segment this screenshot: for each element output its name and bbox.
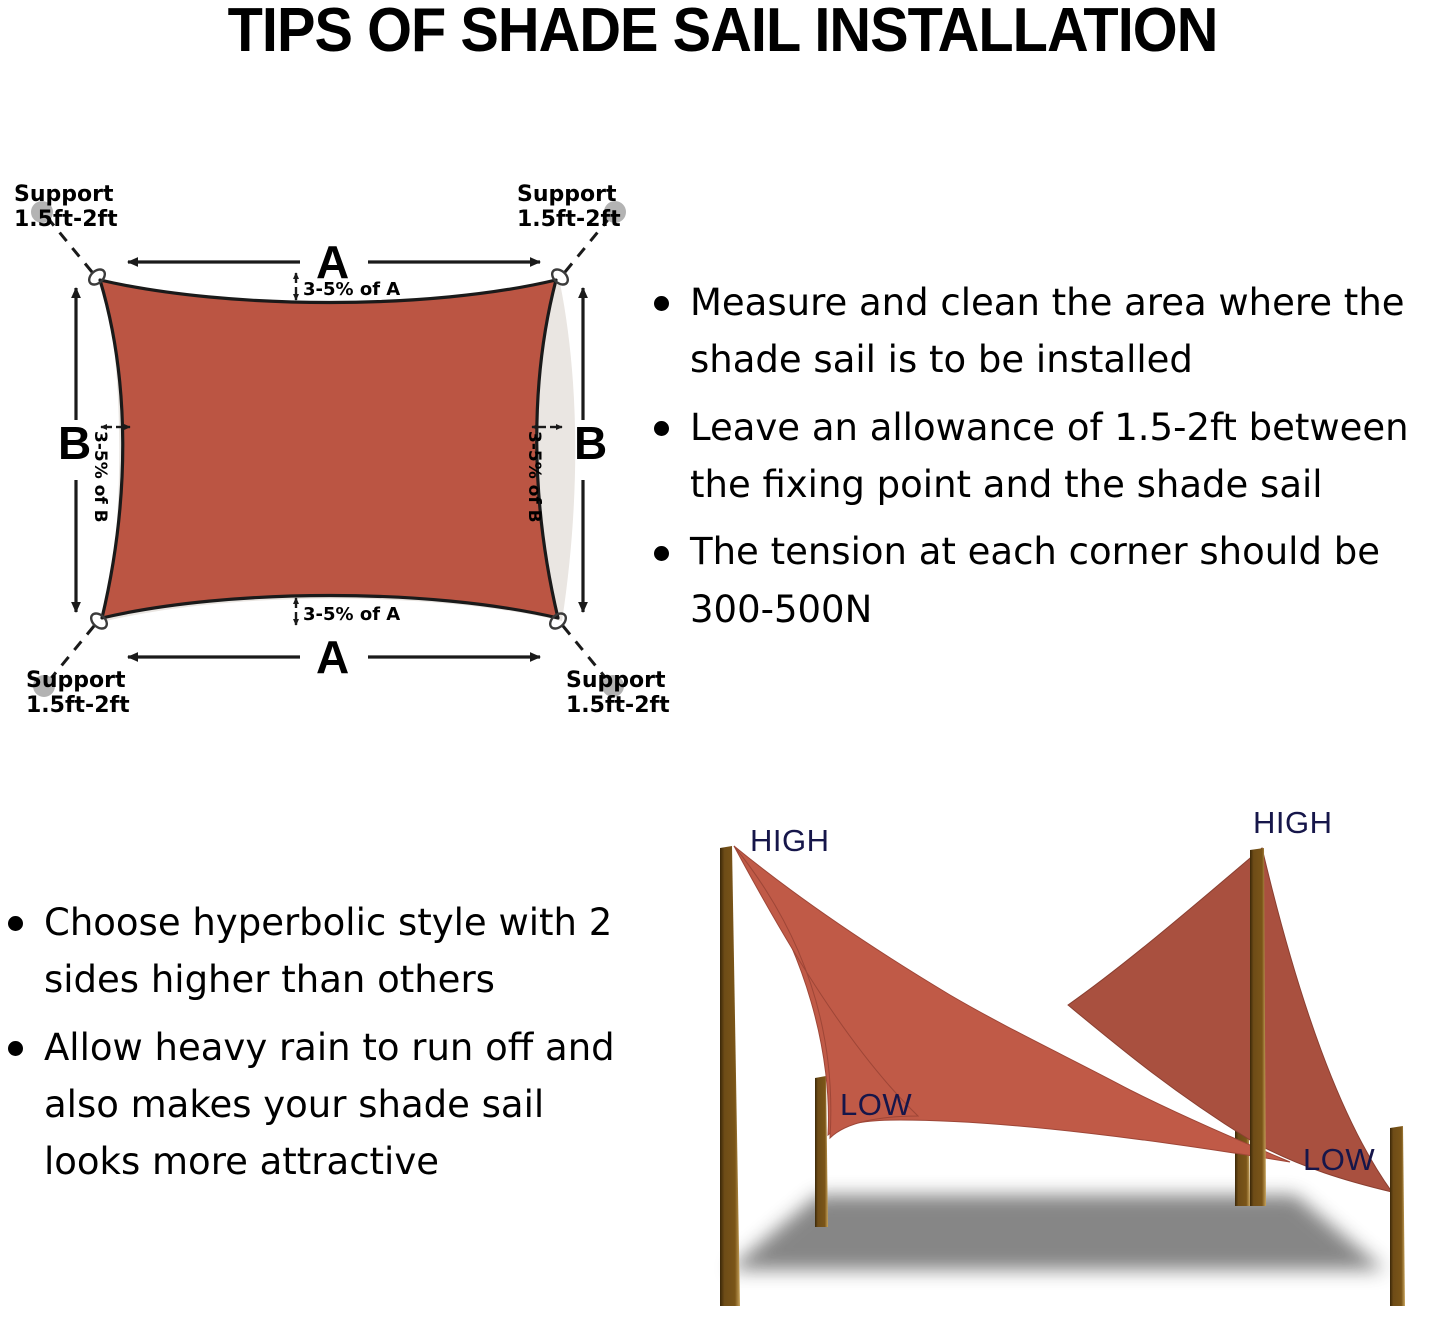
list-item: The tension at each corner should be 300… [648, 523, 1445, 638]
bullet-dot-icon [8, 916, 23, 931]
bullet-dot-icon [654, 546, 669, 561]
dimension-label-a-bottom: A [316, 630, 349, 684]
dimension-label-b-right: B [574, 416, 607, 470]
tip-text: Measure and clean the area where the sha… [690, 274, 1445, 389]
tip-text: Choose hyperbolic style with 2 sides hig… [44, 894, 632, 1009]
shade-sail-shape [100, 280, 558, 618]
support-label-top-left: Support 1.5ft-2ft [14, 182, 118, 233]
post-low-right [1390, 1126, 1405, 1306]
post-high-left [720, 846, 740, 1306]
tip-text: The tension at each corner should be 300… [690, 523, 1445, 638]
post-high-right [1250, 848, 1266, 1206]
infographic-page: TIPS OF SHADE SAIL INSTALLATION [0, 0, 1445, 1319]
bullet-dot-icon [654, 296, 669, 311]
support-label-top-right: Support 1.5ft-2ft [517, 182, 621, 233]
tip-text: Allow heavy rain to run off and also mak… [44, 1019, 632, 1191]
curvature-label-right: 3-5% of B [524, 431, 544, 523]
support-label-bottom-left: Support 1.5ft-2ft [26, 668, 130, 719]
list-item: Measure and clean the area where the sha… [648, 274, 1445, 389]
curvature-label-top: 3-5% of A [303, 279, 400, 300]
list-item: Leave an allowance of 1.5-2ft between th… [648, 399, 1445, 514]
support-label-bottom-right: Support 1.5ft-2ft [566, 668, 670, 719]
rect-sail-diagram-svg [0, 0, 680, 740]
curvature-label-left: 3-5% of B [90, 431, 110, 523]
tips-list-right: Measure and clean the area where the sha… [648, 274, 1445, 648]
bullet-dot-icon [654, 421, 669, 436]
curvature-label-bottom: 3-5% of A [303, 604, 400, 625]
hyperbolic-sail-svg [650, 790, 1445, 1319]
list-item: Allow heavy rain to run off and also mak… [2, 1019, 632, 1191]
list-item: Choose hyperbolic style with 2 sides hig… [2, 894, 632, 1009]
post-low-left [815, 1076, 828, 1227]
dimension-label-b-left: B [58, 416, 91, 470]
tips-list-left: Choose hyperbolic style with 2 sides hig… [2, 894, 632, 1201]
tip-text: Leave an allowance of 1.5-2ft between th… [690, 399, 1445, 514]
post-label-low-left: LOW [840, 1087, 912, 1123]
post-label-high-left: HIGH [750, 823, 830, 859]
bullet-dot-icon [8, 1041, 23, 1056]
post-label-high-right: HIGH [1253, 805, 1333, 841]
post-label-low-right: LOW [1303, 1142, 1375, 1178]
